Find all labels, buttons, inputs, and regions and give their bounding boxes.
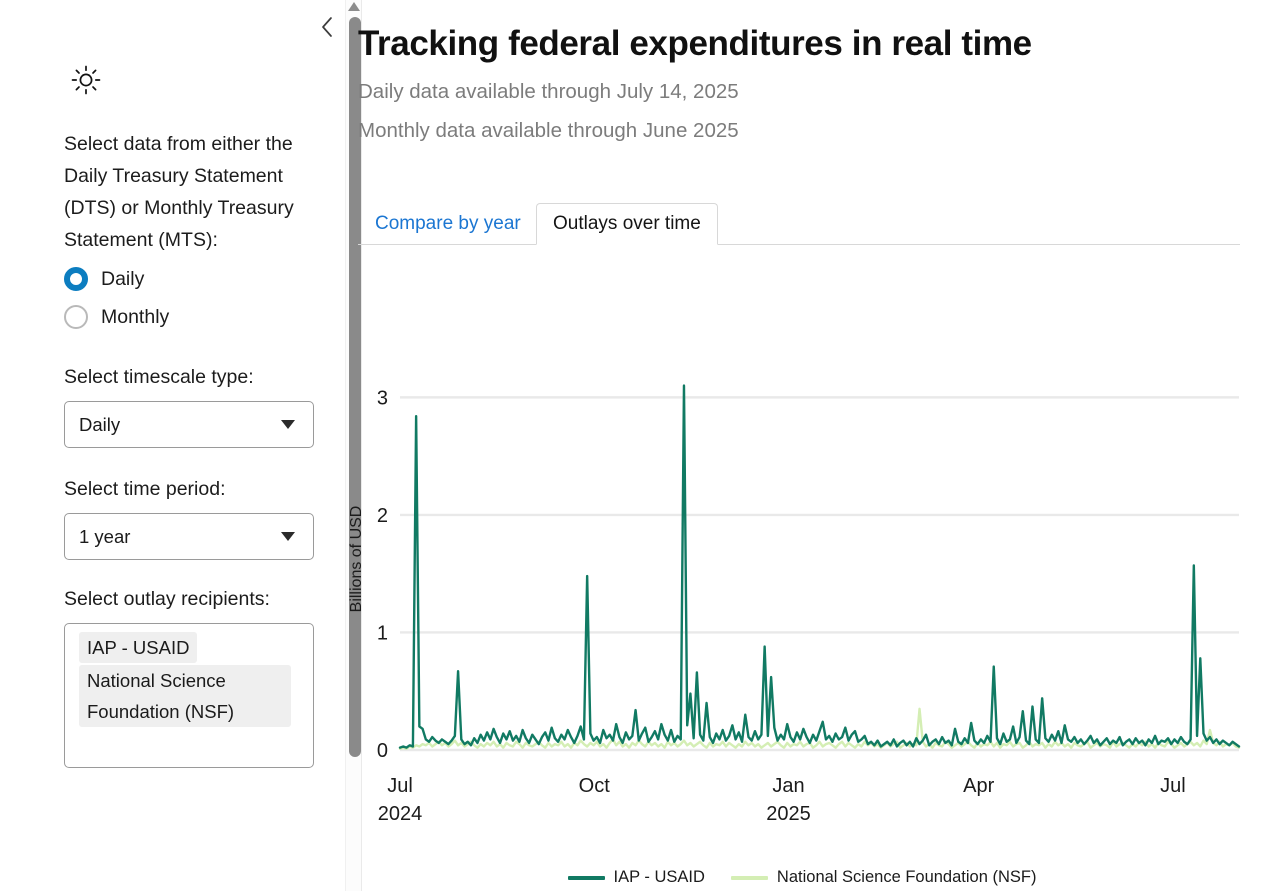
chart-legend: IAP - USAID National Science Foundation … <box>345 868 1259 887</box>
svg-text:Jan: Jan <box>772 775 804 797</box>
sun-icon <box>70 64 102 96</box>
chevron-down-icon <box>281 420 295 429</box>
list-item[interactable]: National Science Foundation (NSF) <box>79 665 291 727</box>
tab-bar: Compare by year Outlays over time <box>358 203 1284 245</box>
legend-item-nsf[interactable]: National Science Foundation (NSF) <box>731 868 1037 887</box>
tab-outlays-over-time[interactable]: Outlays over time <box>536 203 718 245</box>
recipients-group: Select outlay recipients: IAP - USAID Na… <box>64 588 314 768</box>
outlay-recipients-listbox[interactable]: IAP - USAID National Science Foundation … <box>64 623 314 768</box>
app-root: Select data from either the Daily Treasu… <box>0 0 1284 891</box>
legend-swatch-usaid <box>568 876 605 880</box>
time-period-label: Select time period: <box>64 478 314 501</box>
sidebar-controls: Select data from either the Daily Treasu… <box>64 128 314 768</box>
svg-text:2025: 2025 <box>766 803 811 825</box>
tab-compare-by-year-label: Compare by year <box>375 213 521 235</box>
svg-text:Jul: Jul <box>1160 775 1186 797</box>
legend-swatch-nsf <box>731 876 768 880</box>
legend-label-usaid: IAP - USAID <box>614 868 705 887</box>
svg-text:0: 0 <box>377 740 388 762</box>
radio-option-monthly[interactable]: Monthly <box>64 298 314 336</box>
timescale-group: Select timescale type: Daily <box>64 366 314 448</box>
page-title: Tracking federal expenditures in real ti… <box>358 24 1032 64</box>
radio-option-daily[interactable]: Daily <box>64 260 314 298</box>
time-period-group: Select time period: 1 year <box>64 478 314 560</box>
subtitle-daily-availability: Daily data available through July 14, 20… <box>358 80 739 104</box>
list-item[interactable]: IAP - USAID <box>79 632 197 663</box>
tab-compare-by-year[interactable]: Compare by year <box>358 203 538 245</box>
chart-canvas: 0123Billions of USDJul2024OctJan2025AprJ… <box>345 258 1259 848</box>
svg-text:2: 2 <box>377 505 388 527</box>
radio-daily-indicator[interactable] <box>64 267 88 291</box>
data-source-prompt: Select data from either the Daily Treasu… <box>64 128 304 256</box>
time-period-select-value: 1 year <box>79 526 130 548</box>
chevron-left-icon <box>320 16 334 38</box>
radio-monthly-indicator[interactable] <box>64 305 88 329</box>
time-period-select[interactable]: 1 year <box>64 513 314 560</box>
outlays-line-chart: 0123Billions of USDJul2024OctJan2025AprJ… <box>345 258 1259 891</box>
legend-item-usaid[interactable]: IAP - USAID <box>568 868 705 887</box>
svg-text:Apr: Apr <box>963 775 994 797</box>
svg-text:Jul: Jul <box>387 775 413 797</box>
timescale-label: Select timescale type: <box>64 366 314 389</box>
svg-text:1: 1 <box>377 622 388 644</box>
legend-label-nsf: National Science Foundation (NSF) <box>777 868 1037 887</box>
subtitle-monthly-availability: Monthly data available through June 2025 <box>358 119 739 143</box>
timescale-select[interactable]: Daily <box>64 401 314 448</box>
svg-text:2024: 2024 <box>378 803 423 825</box>
recipients-label: Select outlay recipients: <box>64 588 314 611</box>
tab-outlays-over-time-label: Outlays over time <box>553 213 701 235</box>
theme-toggle-button[interactable] <box>66 60 106 100</box>
svg-text:Billions of USD: Billions of USD <box>348 506 365 613</box>
chevron-down-icon <box>281 532 295 541</box>
timescale-select-value: Daily <box>79 414 120 436</box>
collapse-sidebar-button[interactable] <box>316 14 338 40</box>
svg-text:3: 3 <box>377 387 388 409</box>
radio-daily-label: Daily <box>101 268 144 291</box>
svg-text:Oct: Oct <box>579 775 611 797</box>
control-sidebar: Select data from either the Daily Treasu… <box>0 0 345 891</box>
radio-monthly-label: Monthly <box>101 306 169 329</box>
main-content: Tracking federal expenditures in real ti… <box>345 0 1284 891</box>
